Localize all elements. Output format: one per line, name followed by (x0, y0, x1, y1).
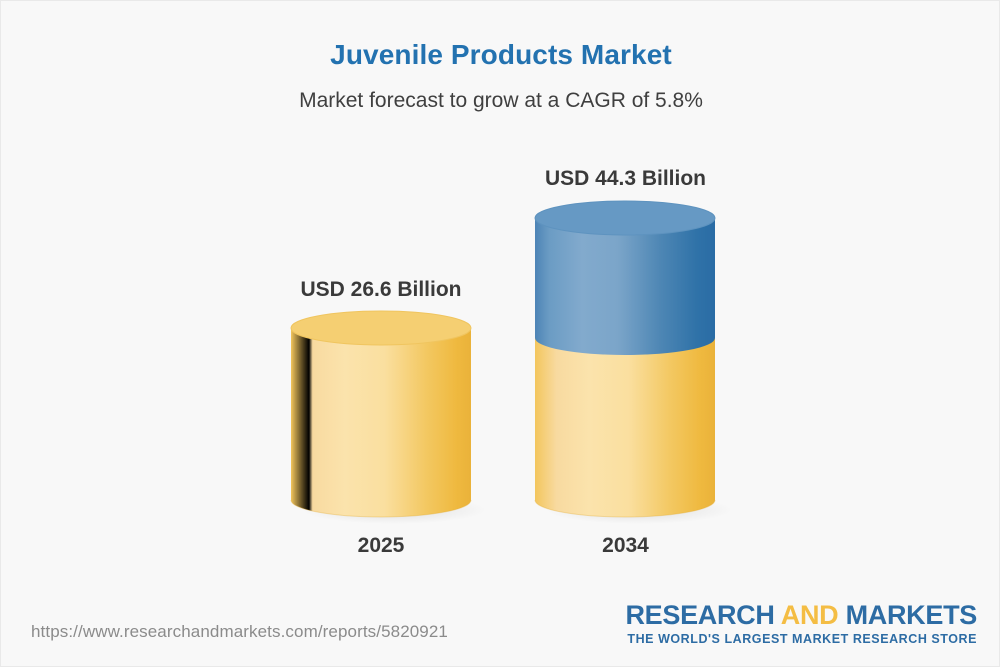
research-and-markets-logo[interactable]: RESEARCH AND MARKETS THE WORLD'S LARGEST… (625, 601, 977, 646)
cylinder-body (291, 328, 471, 517)
data-label-2034: USD 44.3 Billion (535, 167, 716, 191)
plot-area: USD 26.6 Billion USD 44.3 Billion 2025 2… (1, 1, 1000, 601)
cylinder-segment-base (535, 338, 715, 517)
logo-tagline: THE WORLD'S LARGEST MARKET RESEARCH STOR… (625, 632, 977, 646)
bar-cylinder-2025 (291, 314, 487, 524)
source-url[interactable]: https://www.researchandmarkets.com/repor… (31, 622, 448, 642)
logo-wordmark: RESEARCH AND MARKETS (625, 601, 977, 629)
logo-word-markets: MARKETS (846, 600, 977, 630)
cylinder-segment-growth (535, 218, 715, 355)
category-label-2025: 2025 (291, 534, 471, 558)
data-label-2025: USD 26.6 Billion (291, 278, 471, 302)
chart-canvas: Juvenile Products Market Market forecast… (0, 0, 1000, 667)
category-label-2034: 2034 (535, 534, 716, 558)
bar-cylinder-2034 (535, 204, 732, 524)
logo-word-research: RESEARCH (625, 600, 774, 630)
logo-word-and: AND (781, 600, 839, 630)
